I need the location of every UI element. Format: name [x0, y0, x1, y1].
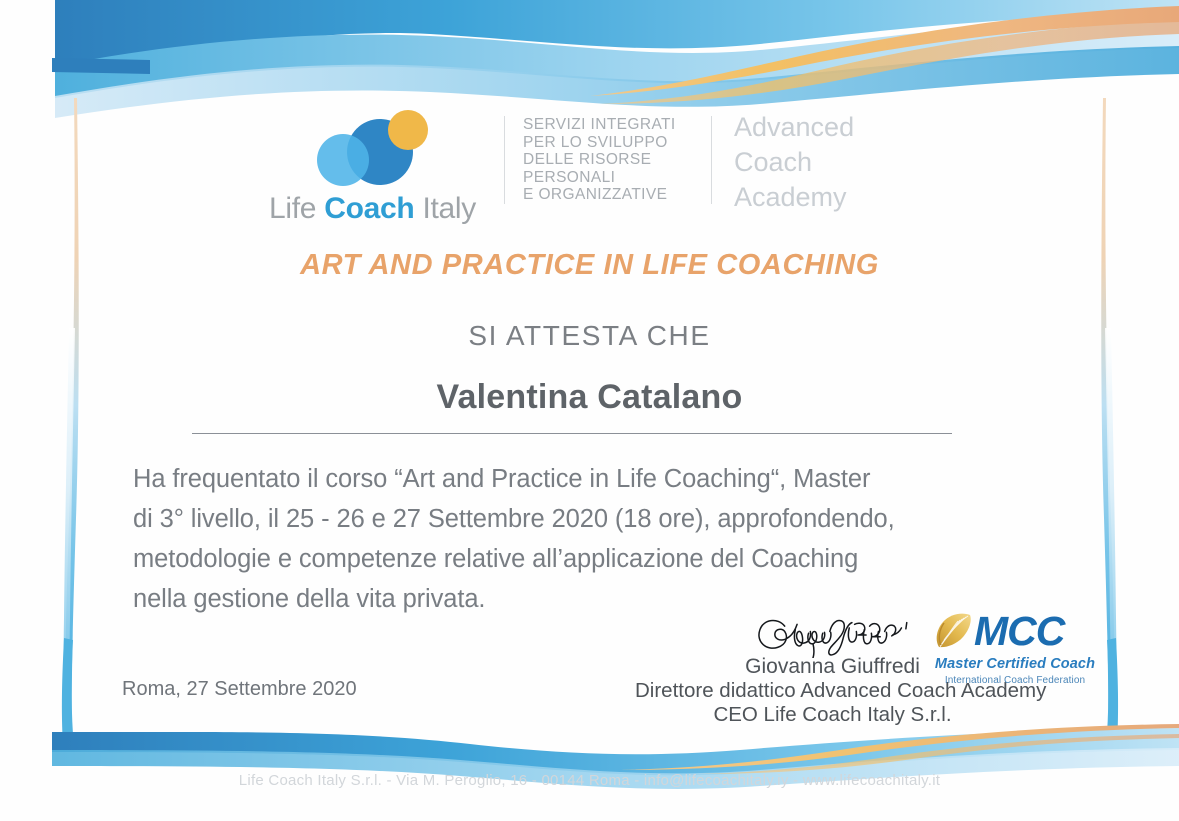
academy-line-2: Coach — [734, 145, 924, 180]
signer-title-line-2: CEO Life Coach Italy S.r.l. — [635, 703, 1030, 727]
company-tagline: SERVIZI INTEGRATI PER LO SVILUPPO DELLE … — [523, 108, 693, 204]
tagline-line-3: DELLE RISORSE — [523, 151, 693, 169]
footer-contact-line: Life Coach Italy S.r.l. - Via M. Perogli… — [0, 772, 1179, 789]
certificate-page: Life Coach Italy SERVIZI INTEGRATI PER L… — [0, 0, 1179, 821]
life-coach-italy-logo: Life Coach Italy — [255, 108, 490, 226]
wordmark-life: Life — [269, 192, 324, 225]
mcc-accreditation-logo: MCC Master Certified Coach International… — [932, 607, 1098, 686]
mcc-subtitle: Master Certified Coach — [932, 656, 1098, 672]
tagline-line-2: PER LO SVILUPPO — [523, 134, 693, 152]
life-coach-italy-wordmark: Life Coach Italy — [269, 192, 476, 226]
tagline-line-1: SERVIZI INTEGRATI — [523, 116, 693, 134]
life-coach-italy-circles-logo — [308, 108, 438, 190]
recipient-name: Valentina Catalano — [0, 378, 1179, 417]
wordmark-italy: Italy — [414, 192, 476, 225]
body-line-2: di 3° livello, il 25 - 26 e 27 Settembre… — [133, 499, 1063, 539]
issue-place-date: Roma, 27 Settembre 2020 — [122, 678, 357, 701]
advanced-coach-academy-name: Advanced Coach Academy — [734, 108, 924, 215]
mcc-wheat-sheaf-icon — [932, 609, 976, 653]
certificate-body-text: Ha frequentato il corso “Art and Practic… — [133, 459, 1063, 619]
tagline-line-5: E ORGANIZZATIVE — [523, 186, 693, 204]
attestation-label: SI ATTESTA CHE — [0, 320, 1179, 352]
academy-line-1: Advanced — [734, 110, 924, 145]
header-logo-row: Life Coach Italy SERVIZI INTEGRATI PER L… — [0, 108, 1179, 226]
course-title: ART AND PRACTICE IN LIFE COACHING — [0, 249, 1179, 282]
body-line-1: Ha frequentato il corso “Art and Practic… — [133, 459, 1063, 499]
wordmark-coach: Coach — [324, 192, 414, 225]
mcc-organization: International Coach Federation — [932, 675, 1098, 686]
handwritten-signature — [744, 612, 921, 658]
name-underline-rule — [192, 433, 952, 434]
mcc-letters: MCC — [974, 608, 1064, 655]
mcc-logo-top-row: MCC — [932, 607, 1098, 655]
body-line-3: metodologie e competenze relative all’ap… — [133, 539, 1063, 579]
logo-divider — [504, 116, 505, 204]
tagline-line-4: PERSONALI — [523, 169, 693, 187]
academy-line-3: Academy — [734, 180, 924, 215]
academy-divider — [711, 116, 712, 204]
